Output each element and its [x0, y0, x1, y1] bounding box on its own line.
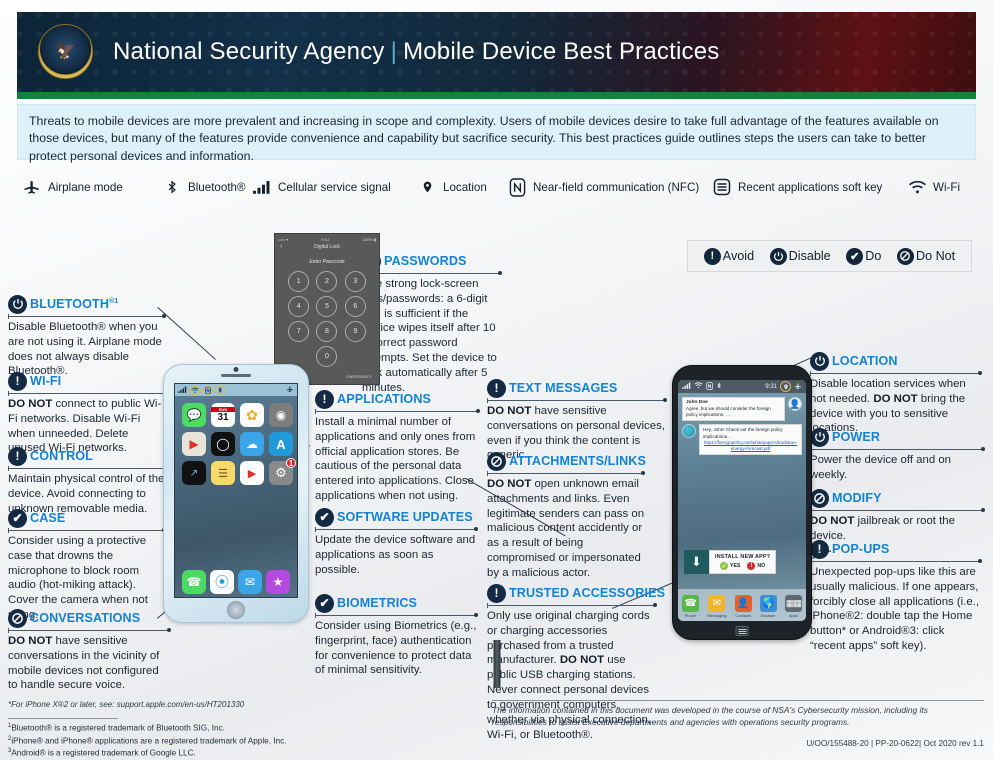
avoid-icon: ! [8, 447, 27, 466]
section-rule [8, 468, 170, 469]
section-rule [810, 561, 982, 562]
avoid-icon: ! [704, 248, 721, 265]
front-camera-icon [234, 367, 239, 372]
section-rule [362, 273, 502, 274]
section-rule [810, 373, 982, 374]
section-title: PASSWORDS [384, 254, 467, 268]
legend-label: Cellular service signal [278, 181, 391, 194]
key-label: Disable [789, 249, 831, 263]
green-accent-bar [17, 92, 976, 99]
weather-app[interactable]: ☁ [240, 432, 264, 456]
apps-app[interactable]: ▦▦ Apps [785, 595, 802, 618]
section-biometrics: ✔ BIOMETRICS Consider using Biometrics (… [315, 594, 478, 678]
document-id: U/OO/155488-20 | PP-20-0622| Oct 2020 re… [492, 739, 984, 748]
do-not-icon [487, 452, 506, 471]
section-rule [8, 530, 166, 531]
avoid-icon: ! [315, 390, 334, 409]
notification-badge: 1 [286, 458, 296, 468]
malicious-link[interactable]: https://foreignp0licy.net/whitepapers/tr… [703, 440, 798, 452]
legend-item-wifi: Wi-Fi [907, 177, 960, 197]
location-pin-icon [417, 177, 437, 197]
section-body: Power the device off and on weekly. [810, 453, 985, 483]
android-dock: ☎ Phone ✉ Messaging 👤 Contacts 🌎 Browser… [678, 589, 806, 621]
message-text: Agree, but we should consider the foreig… [686, 406, 771, 417]
trademark-note-1: 1Bluetooth® is a registered trademark of… [8, 722, 478, 735]
do-not-icon [810, 489, 829, 508]
section-software-updates: ✔ SOFTWARE UPDATES Update the device sof… [315, 508, 478, 577]
section-body: Update the device software and applicati… [315, 533, 478, 577]
cellular-signal-icon [252, 177, 272, 197]
home-button[interactable] [227, 601, 245, 619]
legend-item-nfc: Near-field communication (NFC) [507, 177, 712, 197]
section-rule [487, 605, 657, 606]
section-bluetooth: BLUETOOTH®1 Disable Bluetooth® when you … [8, 295, 166, 379]
section-title: WI-FI [30, 374, 61, 388]
location-pin-icon [780, 381, 791, 392]
do-check-icon: ✔ [8, 509, 27, 528]
do-check-icon: ✔ [846, 248, 863, 265]
keypad-key-9[interactable]: 9 [345, 321, 366, 342]
disable-power-icon [810, 428, 829, 447]
message-text: Hey, John! Check out the foreign policy … [703, 427, 783, 438]
section-body: Unexpected pop-ups like this are usually… [810, 565, 982, 654]
intro-paragraph: Threats to mobile devices are more preva… [17, 104, 976, 160]
clock-label: 9:31 [765, 384, 777, 390]
section-body: Install a minimal number of applications… [315, 415, 480, 504]
iphone-footnote: *For iPhone X®2 or later, see: support.a… [8, 700, 478, 709]
camera-app[interactable]: ◉ [269, 403, 293, 427]
contact-avatar: 👤 [788, 397, 802, 411]
keypad-key-8[interactable]: 8 [316, 321, 337, 342]
iphone-app-grid: 💬 SUN31 ✿ ◉ ▶ ◯ ☁ A ↗ ☰ ▶ ⚙ 1 [175, 396, 297, 485]
section-title: APPLICATIONS [337, 392, 431, 406]
section-body: DO NOT open unknown email attachments an… [487, 477, 645, 581]
cellular-signal-icon [178, 386, 187, 395]
section-body: DO NOT have sensitive conversations in t… [8, 634, 171, 693]
legend-item-recent-apps: Recent applications soft key [712, 177, 907, 197]
safari-app[interactable]: ⦿ [210, 570, 234, 594]
back-chevron-icon[interactable]: ‹ [280, 243, 282, 250]
photos-app[interactable]: ✿ [240, 403, 264, 427]
airplane-icon [286, 385, 294, 395]
wifi-icon [907, 177, 927, 197]
disable-power-icon [810, 352, 829, 371]
keypad-key-6[interactable]: 6 [345, 296, 366, 317]
stocks-app[interactable]: ↗ [182, 461, 206, 485]
wifi-icon [694, 382, 703, 391]
legend-label: Near-field communication (NFC) [533, 181, 699, 194]
calendar-app[interactable]: SUN31 [211, 403, 235, 427]
section-modify: MODIFY DO NOT jailbreak or root the devi… [810, 489, 985, 544]
section-title: CONVERSATIONS [30, 611, 140, 625]
android-device-mockup: 9:31 John Doe Agree, but we should consi… [672, 365, 812, 640]
section-passwords: ✔ PASSWORDS Use strong lock-screen pins/… [362, 252, 502, 396]
android-screen: 9:31 John Doe Agree, but we should consi… [678, 380, 806, 621]
keypad-key-1[interactable]: 1 [288, 271, 309, 292]
section-case: ✔ CASE Consider using a protective case … [8, 509, 166, 623]
section-rule [315, 529, 478, 530]
messaging-app[interactable]: ✉ Messaging [707, 595, 726, 618]
page-header: 🦅 National Security Agency|Mobile Device… [17, 12, 976, 92]
recent-apps-icon[interactable] [736, 626, 749, 636]
earpiece-speaker [221, 374, 251, 377]
eagle-glyph: 🦅 [56, 44, 76, 60]
page-title: National Security Agency|Mobile Device B… [113, 38, 719, 66]
message-bubble: John Doe Agree, but we should consider t… [682, 397, 785, 421]
recent-apps-icon [712, 177, 732, 197]
key-item-do-not: Do Not [897, 248, 955, 265]
footer-left: *For iPhone X®2 or later, see: support.a… [8, 700, 478, 760]
do-check-icon: ✔ [315, 508, 334, 527]
message-row-suspicious: Hey, John! Check out the foreign policy … [678, 421, 806, 454]
key-label: Avoid [723, 249, 754, 263]
section-title: SOFTWARE UPDATES [337, 510, 473, 524]
key-item-avoid: ! Avoid [704, 248, 754, 265]
footnote-divider [8, 718, 118, 719]
section-text-messages: ! TEXT MESSAGES DO NOT have sensitive co… [487, 379, 667, 463]
section-rule [8, 316, 166, 317]
nfc-icon [203, 386, 213, 395]
section-title: MODIFY [832, 491, 882, 505]
contacts-app[interactable]: 👤 Contacts [735, 595, 752, 618]
check-icon: ✓ [720, 562, 728, 570]
avoid-icon: ! [487, 584, 506, 603]
message-bubble: Hey, John! Check out the foreign policy … [699, 424, 802, 454]
key-label: Do [865, 249, 881, 263]
iphone-dock: ☎ ⦿ ✉ ★ [175, 570, 297, 594]
section-title: POWER [832, 430, 880, 444]
legend-label: Bluetooth® [188, 181, 246, 194]
section-body: Consider using Biometrics (e.g., fingerp… [315, 619, 478, 678]
phone-app[interactable]: ☎ Phone [682, 595, 699, 618]
section-location: LOCATION Disable location services when … [810, 352, 982, 436]
emergency-button[interactable]: EMERGENCY [346, 374, 372, 379]
section-title: ATTACHMENTS/LINKS [509, 454, 646, 468]
footer-divider [492, 700, 984, 701]
legend-item-airplane: Airplane mode [22, 177, 162, 197]
section-title: LOCATION [832, 354, 898, 368]
mail-app[interactable]: ✉ [238, 570, 262, 594]
message-row-incoming: John Doe Agree, but we should consider t… [678, 393, 806, 421]
unknown-avatar [682, 424, 696, 438]
connector-line [157, 307, 216, 360]
disclaimer-text: The information contained in this docume… [492, 705, 984, 729]
phone-app[interactable]: ☎ [182, 570, 206, 594]
legend-label: Location [443, 181, 487, 194]
android-status-bar: 9:31 [678, 380, 806, 393]
section-rule [487, 473, 645, 474]
section-title: BIOMETRICS [337, 596, 417, 610]
install-app-popup[interactable]: ⬇ INSTALL NEW APP? ✓ YES ! NO [684, 550, 776, 574]
keypad-key-0[interactable]: 0 [316, 346, 337, 367]
section-title: CONTROL [30, 449, 93, 463]
section-body: Disable Bluetooth® when you are not usin… [8, 320, 166, 379]
key-legend-box: ! Avoid Disable ✔ Do Do Not [687, 240, 972, 272]
section-title: POP-UPS [832, 542, 889, 556]
section-conversations: CONVERSATIONS DO NOT have sensitive conv… [8, 609, 171, 693]
section-title: TEXT MESSAGES [509, 381, 617, 395]
section-control: ! CONTROL Maintain physical control of t… [8, 447, 170, 516]
section-rule [810, 449, 985, 450]
do-check-icon: ✔ [315, 594, 334, 613]
legend-label: Recent applications soft key [738, 181, 882, 194]
trademark-note-3: 3Android® is a registered trademark of G… [8, 747, 478, 760]
section-rule [487, 400, 667, 401]
section-rule [810, 510, 985, 511]
section-attachments-links: ATTACHMENTS/LINKS DO NOT open unknown em… [487, 452, 645, 581]
iphone-status-bar [175, 384, 297, 396]
download-icon: ⬇ [684, 550, 709, 574]
avoid-icon: ! [810, 540, 829, 559]
trademark-note-2: 2iPhone® and iPhone® applications are a … [8, 735, 478, 748]
section-title: CASE [30, 511, 65, 525]
passcode-keypad[interactable]: 1 2 3 4 5 6 7 8 9 0 [278, 271, 376, 367]
footer-right: The information contained in this docume… [492, 700, 984, 748]
nfc-icon [706, 382, 713, 392]
nfc-icon [507, 177, 527, 197]
section-rule [8, 630, 171, 631]
passcode-prompt: Enter Passcode [278, 259, 376, 265]
cellular-signal-icon [682, 382, 691, 391]
disable-power-icon [770, 248, 787, 265]
keypad-key-2[interactable]: 2 [316, 271, 337, 292]
do-not-icon [8, 609, 27, 628]
legend-item-bluetooth: Bluetooth® [162, 177, 252, 197]
keypad-key-3[interactable]: 3 [345, 271, 366, 292]
section-title: TRUSTED ACCESSORIES [509, 586, 665, 600]
settings-app[interactable]: ⚙ 1 [269, 461, 293, 485]
bluetooth-icon [215, 385, 225, 395]
section-rule [315, 411, 480, 412]
do-not-icon [897, 248, 914, 265]
key-item-do: ✔ Do [846, 248, 881, 265]
legend-item-location: Location [417, 177, 507, 197]
messages-app[interactable]: 💬 [182, 403, 206, 427]
avoid-icon: ! [487, 379, 506, 398]
section-rule [8, 393, 168, 394]
browser-app[interactable]: 🌎 Browser [760, 595, 777, 618]
lockscreen-title: Digital Lock [314, 244, 340, 250]
nsa-seal-icon: 🦅 [38, 24, 93, 79]
key-label: Do Not [916, 249, 955, 263]
section-power: POWER Power the device off and on weekly… [810, 428, 985, 483]
section-wifi: ! WI-FI DO NOT connect to public Wi-Fi n… [8, 372, 168, 456]
disable-power-icon [8, 295, 27, 314]
notes-app[interactable]: ☰ [211, 461, 235, 485]
section-rule [315, 615, 478, 616]
iphone-home-screen: 💬 SUN31 ✿ ◉ ▶ ◯ ☁ A ↗ ☰ ▶ ⚙ 1 ☎ ⦿ [174, 383, 298, 598]
maps-app[interactable]: ▶ [182, 432, 206, 456]
youtube-app[interactable]: ▶ [240, 461, 264, 485]
keypad-key-5[interactable]: 5 [316, 296, 337, 317]
airplane-icon [794, 382, 802, 392]
iphone-device-mockup: 💬 SUN31 ✿ ◉ ▶ ◯ ☁ A ↗ ☰ ▶ ⚙ 1 ☎ ⦿ [163, 364, 309, 623]
avoid-icon: ! [8, 372, 27, 391]
itunes-app[interactable]: ★ [266, 570, 290, 594]
section-applications: ! APPLICATIONS Install a minimal number … [315, 390, 480, 504]
popup-yes-button[interactable]: ✓ YES [720, 562, 740, 570]
legend-label: Wi-Fi [933, 181, 960, 194]
clock-app[interactable]: ◯ [211, 432, 235, 456]
section-title: BLUETOOTH®1 [30, 297, 118, 311]
agency-name: National Security Agency [113, 38, 385, 65]
keypad-key-7[interactable]: 7 [288, 321, 309, 342]
legend-label: Airplane mode [48, 181, 123, 194]
bluetooth-icon [716, 381, 722, 392]
page-subtitle: Mobile Device Best Practices [403, 38, 719, 65]
bluetooth-icon [162, 177, 182, 197]
infographic-page: 🦅 National Security Agency|Mobile Device… [0, 0, 993, 760]
icon-legend-row: Airplane mode Bluetooth® Cellular servic… [22, 172, 972, 202]
title-divider: | [391, 38, 397, 65]
airplane-icon [22, 177, 42, 197]
section-body: Use strong lock-screen pins/passwords: a… [362, 277, 502, 396]
exclamation-icon: ! [747, 562, 755, 570]
popup-title: INSTALL NEW APP? [715, 554, 770, 560]
popup-no-button[interactable]: ! NO [747, 562, 765, 570]
section-popups: ! POP-UPS Unexpected pop-ups like this a… [810, 540, 982, 654]
charging-cable [493, 640, 500, 688]
iphone-lockscreen-mockup: ••••• ▾ 9:41 100% ▮ ‹ Digital Lock Enter… [274, 233, 380, 385]
keypad-key-4[interactable]: 4 [288, 296, 309, 317]
key-item-disable: Disable [770, 248, 831, 265]
app-store-app[interactable]: A [269, 432, 293, 456]
legend-item-cellular: Cellular service signal [252, 177, 417, 197]
wifi-icon [189, 386, 201, 395]
